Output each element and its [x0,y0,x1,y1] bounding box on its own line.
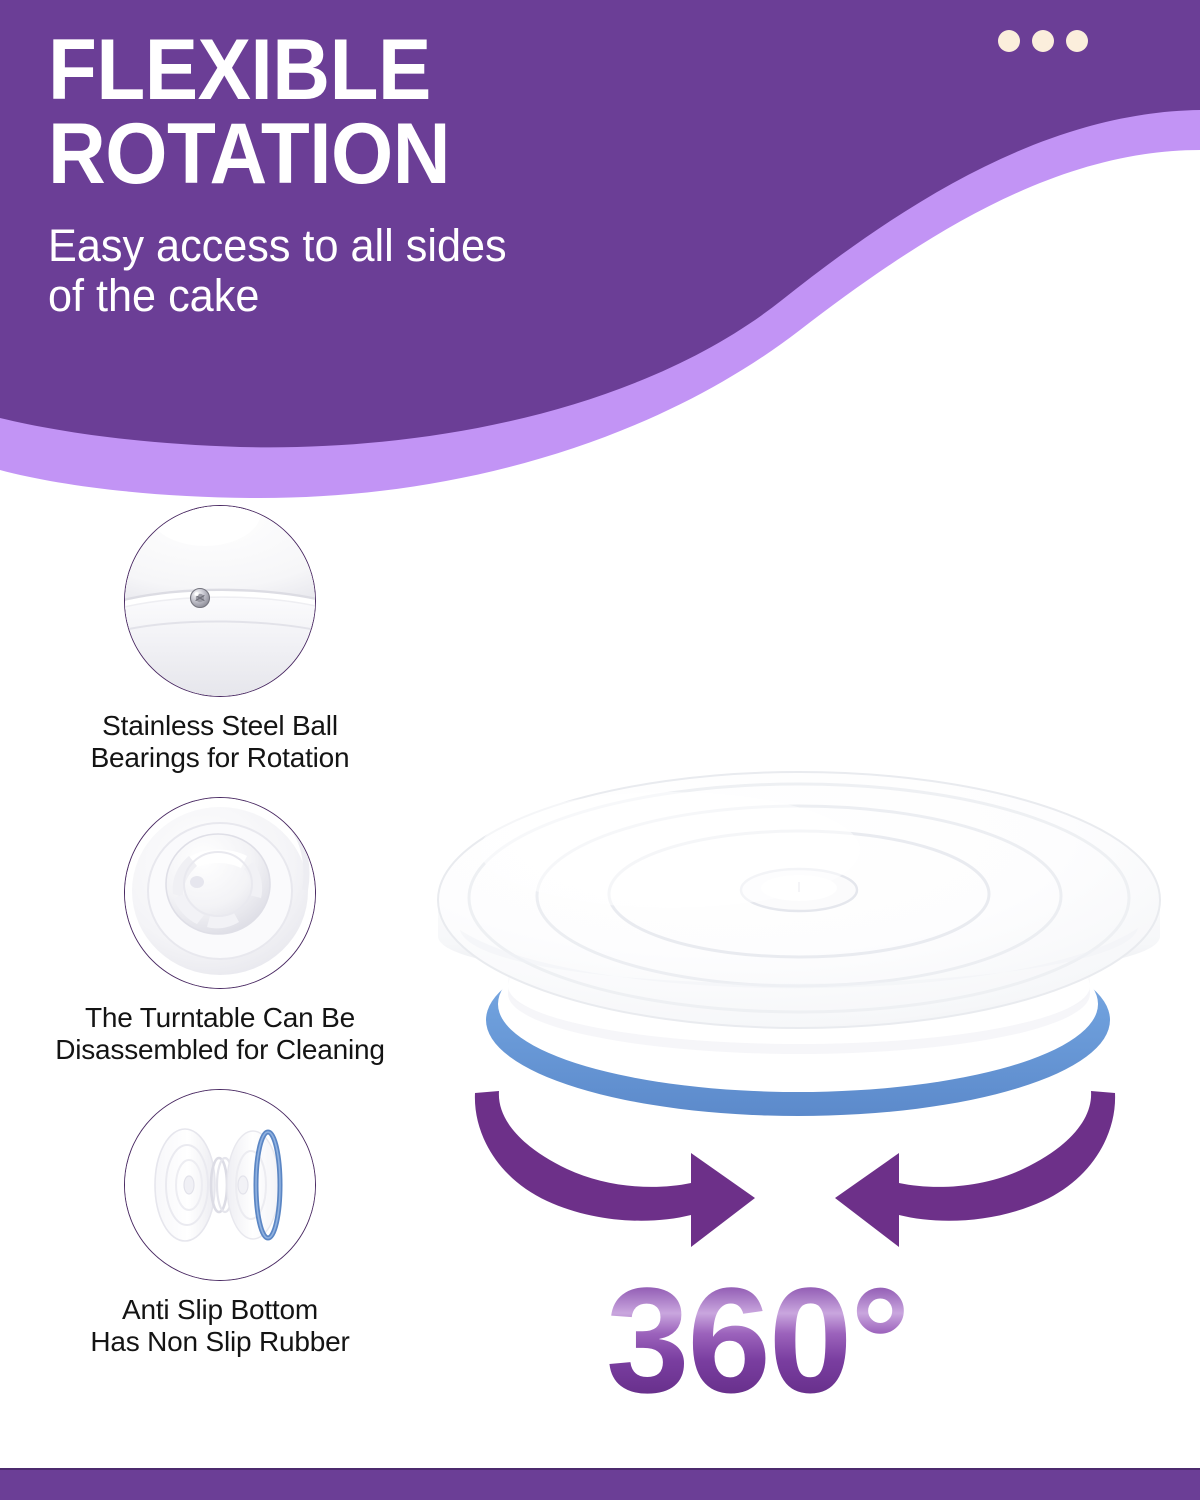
status-badge-360-degrees: 360° [600,1252,1020,1422]
feature-item-anti-slip: Anti Slip Bottom Has Non Slip Rubber [0,1089,440,1359]
product-infographic-page: FLEXIBLE ROTATION Easy access to all sid… [0,0,1200,1500]
rotation-arrow-pair [455,1075,1135,1250]
feature-caption-anti-slip: Anti Slip Bottom Has Non Slip Rubber [90,1294,349,1359]
page-subtitle: Easy access to all sides of the cake [48,221,720,322]
turntable-base-disassembled-icon [124,797,316,989]
feature-item-ball-bearings: Stainless Steel Ball Bearings for Rotati… [0,505,440,775]
feature-item-disassembly: The Turntable Can Be Disassembled for Cl… [0,797,440,1067]
feature-list: Stainless Steel Ball Bearings for Rotati… [0,505,440,1381]
page-title: FLEXIBLE ROTATION [48,28,699,197]
feature-caption-disassembly: The Turntable Can Be Disassembled for Cl… [55,1002,385,1067]
dot-icon-3 [1066,30,1088,52]
turntable-base-illustration [125,798,315,988]
ball-bearing-illustration [125,506,315,696]
hero-text-block: FLEXIBLE ROTATION Easy access to all sid… [48,28,748,321]
footer-bar [0,1468,1200,1500]
decorative-dots-group [998,30,1088,52]
anti-slip-rubber-base-icon [124,1089,316,1281]
360-degree-label: 360° [600,1252,1020,1422]
rotation-arrows [455,1075,1135,1250]
hero-banner: FLEXIBLE ROTATION Easy access to all sid… [0,0,1200,500]
curved-arrow-left-icon [835,1091,1115,1247]
ball-bearing-closeup-icon [124,505,316,697]
curved-arrow-right-icon [475,1091,755,1247]
feature-caption-ball-bearings: Stainless Steel Ball Bearings for Rotati… [91,710,350,775]
dot-icon-1 [998,30,1020,52]
degrees-text: 360° [606,1256,908,1422]
anti-slip-base-illustration [125,1090,315,1280]
dot-icon-2 [1032,30,1054,52]
